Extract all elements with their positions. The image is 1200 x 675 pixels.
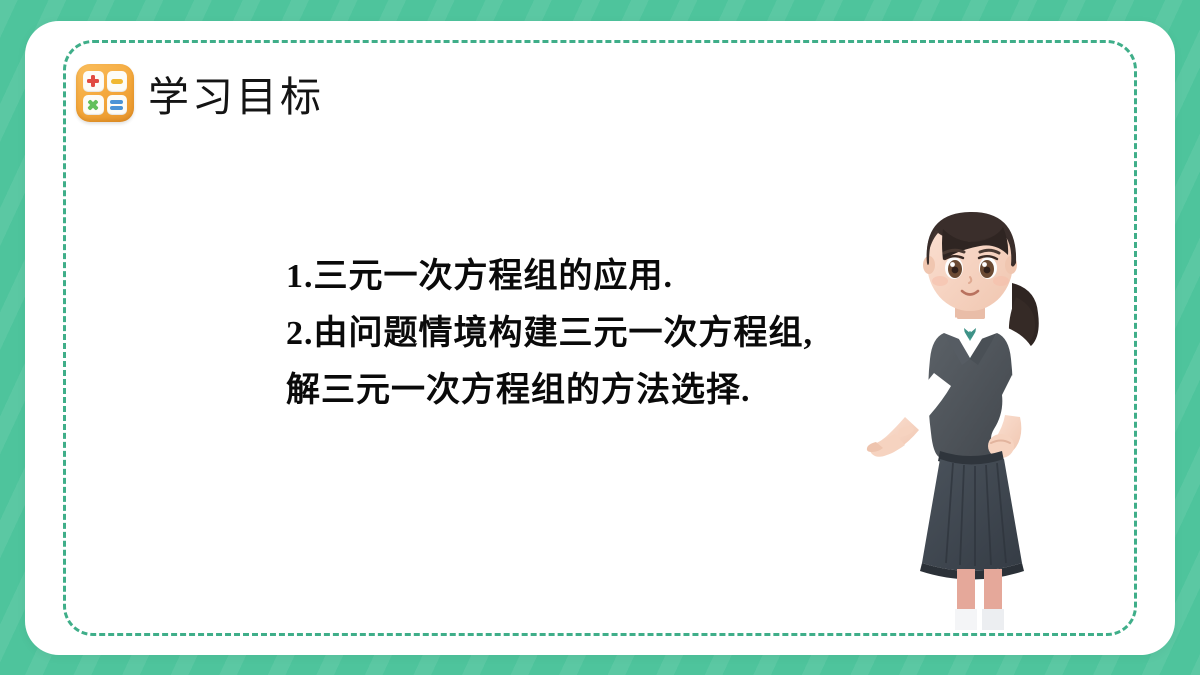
calculator-tile-equals xyxy=(107,95,128,116)
objectives-list: 1.三元一次方程组的应用. 2.由问题情境构建三元一次方程组, 解三元一次方程组… xyxy=(286,248,906,419)
calculator-icon xyxy=(76,64,134,122)
calculator-tile-plus xyxy=(83,71,104,92)
slide-root: 学习目标 1.三元一次方程组的应用. 2.由问题情境构建三元一次方程组, 解三元… xyxy=(0,0,1200,675)
calculator-tile-minus xyxy=(107,71,128,92)
slide-header: 学习目标 xyxy=(76,63,324,123)
objective-line-2: 2.由问题情境构建三元一次方程组, xyxy=(286,305,906,362)
schoolgirl-illustration xyxy=(860,205,1090,630)
calculator-tile-multiply xyxy=(83,95,104,116)
objective-line-1: 1.三元一次方程组的应用. xyxy=(286,248,906,305)
objective-line-3: 解三元一次方程组的方法选择. xyxy=(286,362,906,419)
minus-icon xyxy=(111,79,123,84)
page-title: 学习目标 xyxy=(148,63,324,123)
